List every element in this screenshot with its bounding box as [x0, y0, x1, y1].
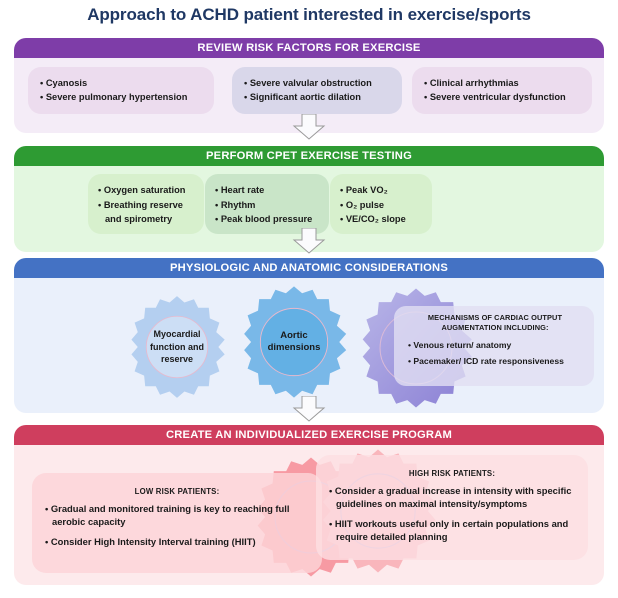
list-item: Consider High Intensity Interval trainin… [44, 535, 310, 548]
list-item: HIIT workouts useful only in certain pop… [328, 517, 576, 543]
page-title: Approach to ACHD patient interested in e… [0, 5, 618, 25]
risk-box-2: Severe valvular obstruction Significant … [232, 67, 402, 114]
cpet-box-1-list: Oxygen saturation Breathing reserve and … [98, 183, 194, 227]
gear-aortic-line-2: dimensions [268, 342, 321, 355]
section-physiologic-anatomic: PHYSIOLOGIC AND ANATOMIC CONSIDERATIONS … [14, 258, 604, 413]
risk-box-1: Cyanosis Severe pulmonary hypertension [28, 67, 214, 114]
list-item: Peak VO₂ [340, 183, 422, 198]
section-header-cpet: PERFORM CPET EXERCISE TESTING [14, 146, 604, 166]
mechanisms-panel: MECHANISMS OF CARDIAC OUTPUT AUGMENTATIO… [394, 306, 594, 386]
list-item: Significant aortic dilation [244, 90, 390, 104]
high-risk-panel: HIGH RISK PATIENTS: Consider a gradual i… [316, 455, 588, 560]
list-item: Severe valvular obstruction [244, 76, 390, 90]
high-risk-title: HIGH RISK PATIENTS: [328, 469, 576, 478]
low-risk-list: Gradual and monitored training is key to… [44, 502, 310, 548]
cpet-box-2-list: Heart rate Rhythm Peak blood pressure [215, 183, 319, 227]
arrow-risk-to-cpet-icon [292, 114, 326, 140]
list-item: Severe ventricular dysfunction [424, 90, 580, 104]
list-item: Oxygen saturation [98, 183, 194, 198]
mechanisms-list: Venous return/ anatomy Pacemaker/ ICD ra… [406, 337, 584, 369]
section-header-risk: REVIEW RISK FACTORS FOR EXERCISE [14, 38, 604, 58]
gear-aortic: Aortic dimensions [236, 284, 352, 400]
low-risk-panel: LOW RISK PATIENTS: Gradual and monitored… [32, 473, 322, 573]
cpet-box-3: Peak VO₂ O₂ pulse VE/CO₂ slope [330, 174, 432, 234]
section-exercise-program: CREATE AN INDIVIDUALIZED EXERCISE PROGRA… [14, 425, 604, 585]
list-item: VE/CO₂ slope [340, 212, 422, 227]
high-risk-list: Consider a gradual increase in intensity… [328, 484, 576, 543]
section-body-program: LOW RISK PATIENTS: Gradual and monitored… [14, 445, 604, 585]
risk-box-3: Clinical arrhythmias Severe ventricular … [412, 67, 592, 114]
risk-box-2-list: Severe valvular obstruction Significant … [244, 76, 390, 104]
gear-myocardial-line-2: function and [150, 341, 204, 354]
section-header-physiologic: PHYSIOLOGIC AND ANATOMIC CONSIDERATIONS [14, 258, 604, 278]
list-item: Severe pulmonary hypertension [40, 90, 202, 104]
risk-box-3-list: Clinical arrhythmias Severe ventricular … [424, 76, 580, 104]
arrow-cpet-to-physiologic-icon [292, 228, 326, 254]
list-item: Gradual and monitored training is key to… [44, 502, 310, 528]
list-item: Peak blood pressure [215, 212, 319, 227]
risk-box-1-list: Cyanosis Severe pulmonary hypertension [40, 76, 202, 104]
cpet-box-2: Heart rate Rhythm Peak blood pressure [205, 174, 329, 234]
list-item: Venous return/ anatomy [406, 337, 584, 353]
arrow-physiologic-to-program-icon [292, 396, 326, 422]
section-body-physiologic: Myocardial function and reserve Aortic d… [14, 278, 604, 413]
gear-myocardial-line-3: reserve [161, 353, 193, 366]
section-header-program: CREATE AN INDIVIDUALIZED EXERCISE PROGRA… [14, 425, 604, 445]
gear-myocardial-line-1: Myocardial [153, 328, 200, 341]
gear-myocardial-label: Myocardial function and reserve [124, 294, 230, 400]
cpet-box-3-list: Peak VO₂ O₂ pulse VE/CO₂ slope [340, 183, 422, 227]
list-item: Cyanosis [40, 76, 202, 90]
mechanisms-title: MECHANISMS OF CARDIAC OUTPUT AUGMENTATIO… [406, 313, 584, 333]
flowchart-diagram: Approach to ACHD patient interested in e… [0, 0, 618, 598]
gear-myocardial: Myocardial function and reserve [124, 294, 230, 400]
gear-aortic-label: Aortic dimensions [236, 284, 352, 400]
low-risk-title: LOW RISK PATIENTS: [44, 487, 310, 496]
list-item: Breathing reserve and spirometry [98, 198, 194, 227]
list-item: Consider a gradual increase in intensity… [328, 484, 576, 510]
list-item: Clinical arrhythmias [424, 76, 580, 90]
list-item: Heart rate [215, 183, 319, 198]
list-item: Rhythm [215, 198, 319, 213]
list-item: Pacemaker/ ICD rate responsiveness [406, 353, 584, 369]
gear-aortic-line-1: Aortic [280, 330, 307, 343]
cpet-box-1: Oxygen saturation Breathing reserve and … [88, 174, 204, 234]
list-item: O₂ pulse [340, 198, 422, 213]
